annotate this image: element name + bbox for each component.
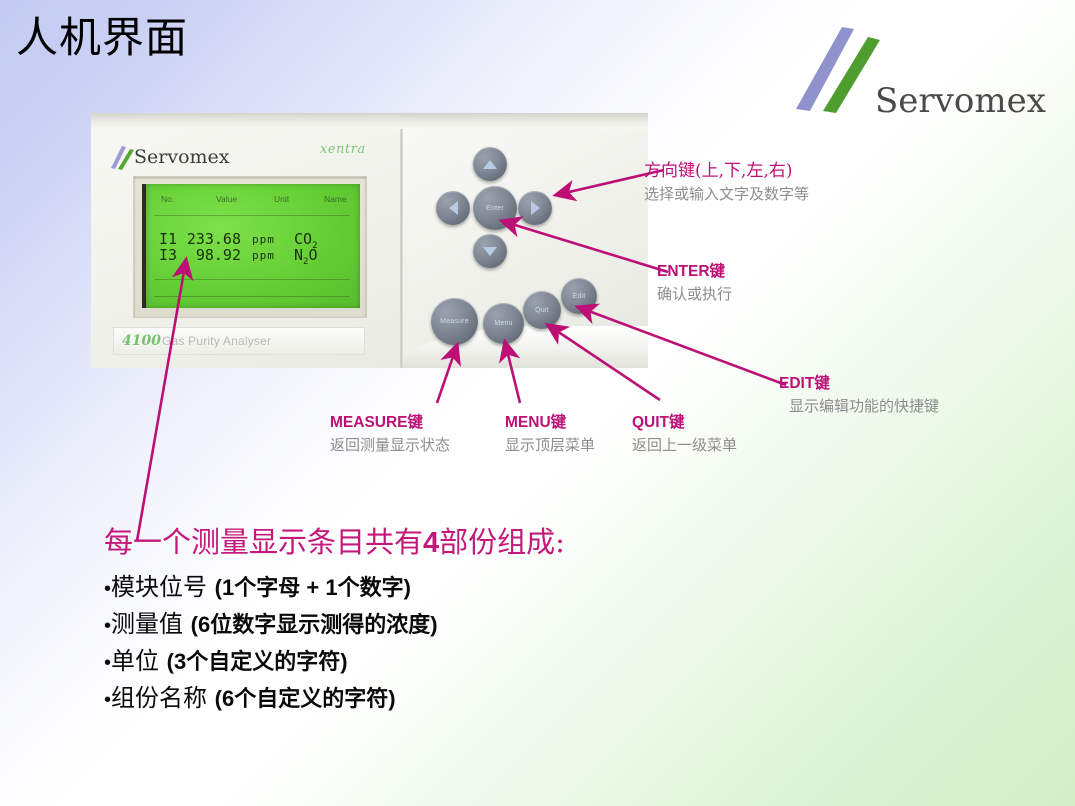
bullet-label: 单位 [111, 647, 167, 675]
callout-edit-key-desc: 显示编辑功能的快捷键 [789, 395, 939, 416]
list-item: •组份名称 (6个自定义的字符) [104, 681, 438, 718]
menu-button-label: Menu [494, 320, 512, 327]
bullet-paren: (6位数字显示测得的浓度) [191, 612, 438, 637]
lcd-bezel: No. Value Unit Name I1 233.68 ppm CO2 I3… [133, 176, 367, 318]
lcd-divider [154, 215, 350, 216]
bullet-paren: (1个字母 + 1个数字) [215, 575, 411, 600]
quit-button[interactable]: Quit [523, 291, 561, 329]
enter-button-label: Enter [486, 205, 504, 212]
servomex-logo: Servomex [790, 25, 1065, 130]
down-arrow-button[interactable] [473, 234, 507, 268]
lcd-column-headers: No. Value Unit Name [146, 194, 360, 208]
edit-button-label: Edit [573, 293, 586, 300]
left-arrow-button[interactable] [436, 191, 470, 225]
bullet-glyph: • [104, 578, 111, 600]
slide-canvas: 人机界面 Servomex Servomex xentra No. [0, 0, 1075, 806]
lcd-row-unit: ppm [252, 249, 275, 262]
panel-top-edge [91, 113, 648, 129]
model-name: Gas Purity Analyser [162, 334, 271, 348]
body-heading-number: 4 [423, 527, 439, 559]
callout-menu-key-title: MENU键 [505, 410, 595, 432]
bullet-glyph: • [104, 652, 111, 674]
callout-menu-key-desc: 显示顶层菜单 [505, 434, 595, 455]
callout-edit-key-title: EDIT键 [779, 371, 939, 393]
right-arrow-button[interactable] [518, 191, 552, 225]
list-item: •模块位号 (1个字母 + 1个数字) [104, 570, 438, 607]
callout-quit-key-desc: 返回上一级菜单 [632, 434, 737, 455]
callout-measure-key-desc: 返回测量显示状态 [330, 434, 450, 455]
lcd-divider [154, 279, 350, 280]
model-number: 4100 [122, 333, 161, 349]
lcd-header-value: Value [216, 194, 237, 204]
lcd-row-name: N2O [294, 246, 317, 267]
lcd-row-unit: ppm [252, 233, 275, 246]
instrument-brand-mark: Servomex [109, 145, 229, 171]
instrument-model-label: 4100 Gas Purity Analyser [113, 327, 365, 355]
lcd-row-value: 98.92 [196, 246, 241, 264]
bullet-paren: (3个自定义的字符) [167, 649, 348, 674]
bullet-label: 测量值 [111, 610, 191, 638]
up-arrow-button[interactable] [473, 147, 507, 181]
callout-arrow-keys-desc: 选择或输入文字及数字等 [644, 183, 809, 204]
body-heading-part-b: 部份组成: [439, 525, 565, 559]
menu-button[interactable]: Menu [483, 303, 524, 344]
lcd-row-no: I3 [159, 246, 177, 264]
instrument-photo: Servomex xentra No. Value Unit Name I1 2… [91, 113, 648, 368]
measure-button-label: Measure [440, 318, 469, 325]
instrument-series-mark: xentra [320, 142, 366, 157]
callout-enter-key-title: ENTER键 [657, 259, 732, 281]
quit-button-label: Quit [535, 307, 549, 314]
callout-quit-key-title: QUIT键 [632, 410, 737, 432]
list-item: •单位 (3个自定义的字符) [104, 644, 438, 681]
callout-enter-key-desc: 确认或执行 [657, 283, 732, 304]
callout-arrow-keys-title: 方向键(上,下,左,右) [644, 156, 809, 181]
callout-measure-key-title: MEASURE键 [330, 410, 450, 432]
lcd-header-unit: Unit [274, 194, 289, 204]
page-title: 人机界面 [16, 4, 188, 65]
lcd-header-no: No. [161, 194, 174, 204]
chevron-down-icon [483, 247, 497, 256]
lcd-measurement-row: I3 98.92 ppm N2O [146, 246, 360, 265]
body-heading-part-a: 每一个测量显示条目共有 [104, 525, 423, 559]
measure-button[interactable]: Measure [431, 298, 478, 345]
callout-enter-key: ENTER键 确认或执行 [657, 259, 732, 304]
bullet-glyph: • [104, 689, 111, 711]
lcd-divider [154, 296, 350, 297]
body-bullet-list: •模块位号 (1个字母 + 1个数字) •测量值 (6位数字显示测得的浓度) •… [104, 570, 438, 718]
bullet-glyph: • [104, 615, 111, 637]
callout-menu-key: MENU键 显示顶层菜单 [505, 410, 595, 455]
chevron-right-icon [531, 201, 540, 215]
body-heading: 每一个测量显示条目共有4部份组成: [104, 519, 565, 561]
lcd-header-name: Name [324, 194, 347, 204]
callout-arrow-keys: 方向键(上,下,左,右) 选择或输入文字及数字等 [644, 156, 809, 204]
bullet-label: 模块位号 [111, 573, 215, 601]
edit-button[interactable]: Edit [561, 278, 597, 314]
callout-measure-key: MEASURE键 返回测量显示状态 [330, 410, 450, 455]
servomex-wordmark: Servomex [875, 81, 1046, 121]
chevron-left-icon [449, 201, 458, 215]
enter-button[interactable]: Enter [473, 186, 517, 230]
callout-quit-key: QUIT键 返回上一级菜单 [632, 410, 737, 455]
lcd-screen: No. Value Unit Name I1 233.68 ppm CO2 I3… [142, 184, 360, 308]
chevron-up-icon [483, 160, 497, 169]
callout-edit-key: EDIT键 显示编辑功能的快捷键 [779, 371, 939, 416]
bullet-label: 组份名称 [111, 684, 215, 712]
bullet-paren: (6个自定义的字符) [215, 686, 396, 711]
instrument-brand-text: Servomex [134, 146, 230, 168]
list-item: •测量值 (6位数字显示测得的浓度) [104, 607, 438, 644]
servomex-slash-logo-icon-small [109, 145, 135, 171]
